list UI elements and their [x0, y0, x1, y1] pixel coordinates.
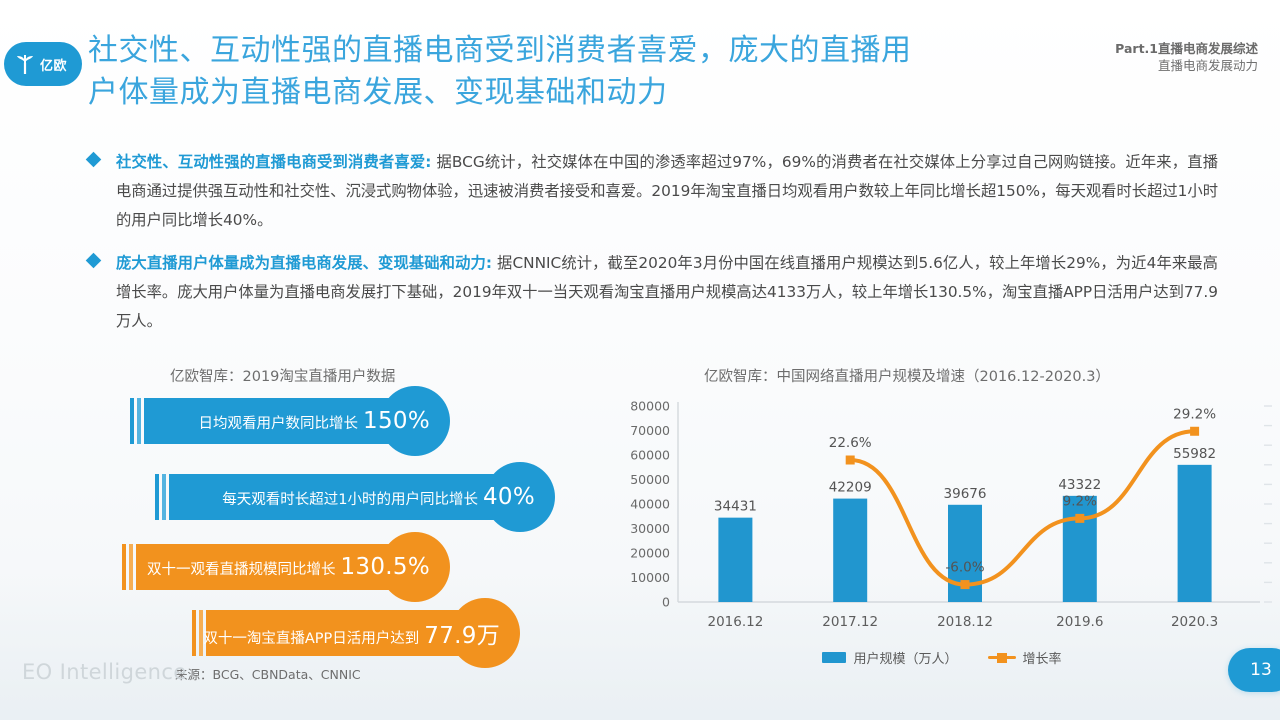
diamond-bullet-icon	[86, 152, 102, 168]
bullet-item: 庞大直播用户体量成为直播电商发展、变现基础和动力: 据CNNIC统计，截至202…	[88, 249, 1218, 336]
x-axis-tick-label: 2016.12	[707, 614, 763, 630]
stat-row: 双十一观看直播规模同比增长 130.5%	[122, 544, 452, 590]
bullet-list: 社交性、互动性强的直播电商受到消费者喜爱: 据BCG统计，社交媒体在中国的渗透率…	[88, 148, 1218, 350]
bullet-lead: 社交性、互动性强的直播电商受到消费者喜爱:	[116, 153, 431, 171]
page-number-badge: 13	[1228, 648, 1280, 692]
stat-value: 40%	[483, 484, 535, 510]
section-label-line2: 直播电商发展动力	[1115, 57, 1258, 74]
legend-line-label: 增长率	[1023, 648, 1062, 667]
chart-bar	[833, 499, 867, 602]
tick-marks	[155, 474, 166, 520]
bullet-text: 庞大直播用户体量成为直播电商发展、变现基础和动力: 据CNNIC统计，截至202…	[116, 249, 1218, 336]
stat-label: 双十一观看直播规模同比增长	[147, 558, 336, 579]
taobao-live-stats-infographic: 日均观看用户数同比增长 150% 每天观看时长超过1小时的用户同比增长 40% …	[100, 392, 570, 662]
y-axis-tick-label: 70000	[630, 423, 670, 438]
stat-bar: 日均观看用户数同比增长 150%	[144, 398, 436, 444]
bar-value-label: 43322	[1058, 477, 1101, 493]
stat-label-group: 双十一观看直播规模同比增长 130.5%	[147, 554, 430, 580]
stat-label-group: 每天观看时长超过1小时的用户同比增长 40%	[222, 484, 535, 510]
chart-line-marker	[1075, 514, 1084, 523]
legend-bar-swatch-icon	[822, 652, 846, 663]
stat-row: 双十一淘宝直播APP日活用户达到 77.9万	[192, 610, 522, 656]
section-label-line1: Part.1直播电商发展综述	[1115, 40, 1258, 57]
chart-legend: 用户规模（万人） 增长率	[612, 648, 1272, 667]
brand-logo-text: 亿欧	[40, 55, 67, 74]
bar-value-label: 55982	[1173, 446, 1216, 462]
line-value-label: 9.2%	[1063, 493, 1097, 509]
page-title-line1: 社交性、互动性强的直播电商受到消费者喜爱，庞大的直播用	[88, 30, 988, 72]
page-number: 13	[1250, 660, 1272, 680]
y-axis-tick-label: 20000	[630, 546, 670, 561]
stat-bar: 双十一观看直播规模同比增长 130.5%	[136, 544, 436, 590]
y-axis-tick-label: 80000	[630, 399, 670, 414]
x-axis-tick-label: 2018.12	[937, 614, 993, 630]
stat-label-group: 双十一淘宝直播APP日活用户达到 77.9万	[203, 616, 500, 650]
tick-marks	[130, 398, 141, 444]
stat-label: 双十一淘宝直播APP日活用户达到	[203, 627, 419, 648]
legend-line-swatch-icon	[988, 652, 1016, 663]
y-axis-tick-label: 50000	[630, 472, 670, 487]
bar-value-label: 34431	[714, 499, 757, 515]
bar-value-label: 39676	[944, 486, 987, 502]
tick-marks	[192, 610, 203, 656]
user-scale-growth-chart: 0100002000030000400005000060000700008000…	[612, 390, 1272, 680]
right-chart-title: 亿欧智库：中国网络直播用户规模及增速（2016.12-2020.3）	[704, 365, 1110, 386]
section-label: Part.1直播电商发展综述 直播电商发展动力	[1115, 40, 1258, 74]
y-axis-tick-label: 0	[662, 595, 670, 610]
line-value-label: 22.6%	[829, 435, 872, 451]
chart-bar	[1178, 465, 1212, 602]
left-chart-title: 亿欧智库：2019淘宝直播用户数据	[170, 365, 395, 386]
x-axis-tick-label: 2019.6	[1056, 614, 1103, 630]
stat-label-group: 日均观看用户数同比增长 150%	[199, 408, 430, 434]
x-axis-tick-label: 2020.3	[1171, 614, 1218, 630]
chart-line	[850, 431, 1194, 584]
page-title: 社交性、互动性强的直播电商受到消费者喜爱，庞大的直播用 户体量成为直播电商发展、…	[88, 30, 988, 114]
slide-header: 亿欧 社交性、互动性强的直播电商受到消费者喜爱，庞大的直播用 户体量成为直播电商…	[0, 32, 1280, 118]
stat-value: 150%	[363, 408, 430, 434]
bar-value-label: 42209	[829, 480, 872, 496]
legend-item-bar: 用户规模（万人）	[822, 648, 957, 667]
diamond-bullet-icon	[86, 253, 102, 269]
bullet-text: 社交性、互动性强的直播电商受到消费者喜爱: 据BCG统计，社交媒体在中国的渗透率…	[116, 148, 1218, 235]
y-axis-tick-label: 60000	[630, 448, 670, 463]
y-axis-tick-label: 10000	[630, 570, 670, 585]
tree-logo-icon	[13, 52, 37, 76]
stat-bar: 每天观看时长超过1小时的用户同比增长 40%	[169, 474, 541, 520]
y-axis-tick-label: 30000	[630, 521, 670, 536]
line-value-label: -6.0%	[945, 560, 984, 576]
legend-item-line: 增长率	[988, 648, 1062, 667]
stat-row: 日均观看用户数同比增长 150%	[130, 398, 450, 444]
chart-bar	[718, 518, 752, 602]
chart-line-marker	[1190, 427, 1199, 436]
stat-value: 77.9万	[424, 616, 500, 650]
stat-label: 日均观看用户数同比增长	[199, 412, 359, 433]
chart-bar	[1063, 496, 1097, 602]
bullet-item: 社交性、互动性强的直播电商受到消费者喜爱: 据BCG统计，社交媒体在中国的渗透率…	[88, 148, 1218, 235]
bullet-lead: 庞大直播用户体量成为直播电商发展、变现基础和动力:	[116, 254, 492, 272]
stat-label: 每天观看时长超过1小时的用户同比增长	[222, 488, 478, 509]
x-axis-tick-label: 2017.12	[822, 614, 878, 630]
line-value-label: 29.2%	[1173, 406, 1216, 422]
chart-line-marker	[961, 580, 970, 589]
stat-bar: 双十一淘宝直播APP日活用户达到 77.9万	[206, 610, 506, 656]
y-axis-tick-label: 40000	[630, 497, 670, 512]
brand-logo: 亿欧	[4, 42, 82, 86]
watermark: EO Intelligence	[22, 660, 187, 684]
legend-bar-label: 用户规模（万人）	[853, 648, 957, 667]
stat-value: 130.5%	[341, 554, 431, 580]
tick-marks	[122, 544, 133, 590]
source-note: 来源：BCG、CBNData、CNNIC	[175, 664, 361, 683]
page-title-line2: 户体量成为直播电商发展、变现基础和动力	[88, 72, 988, 114]
chart-canvas: 0100002000030000400005000060000700008000…	[612, 390, 1272, 640]
stat-row: 每天观看时长超过1小时的用户同比增长 40%	[155, 474, 555, 520]
chart-line-marker	[846, 456, 855, 465]
